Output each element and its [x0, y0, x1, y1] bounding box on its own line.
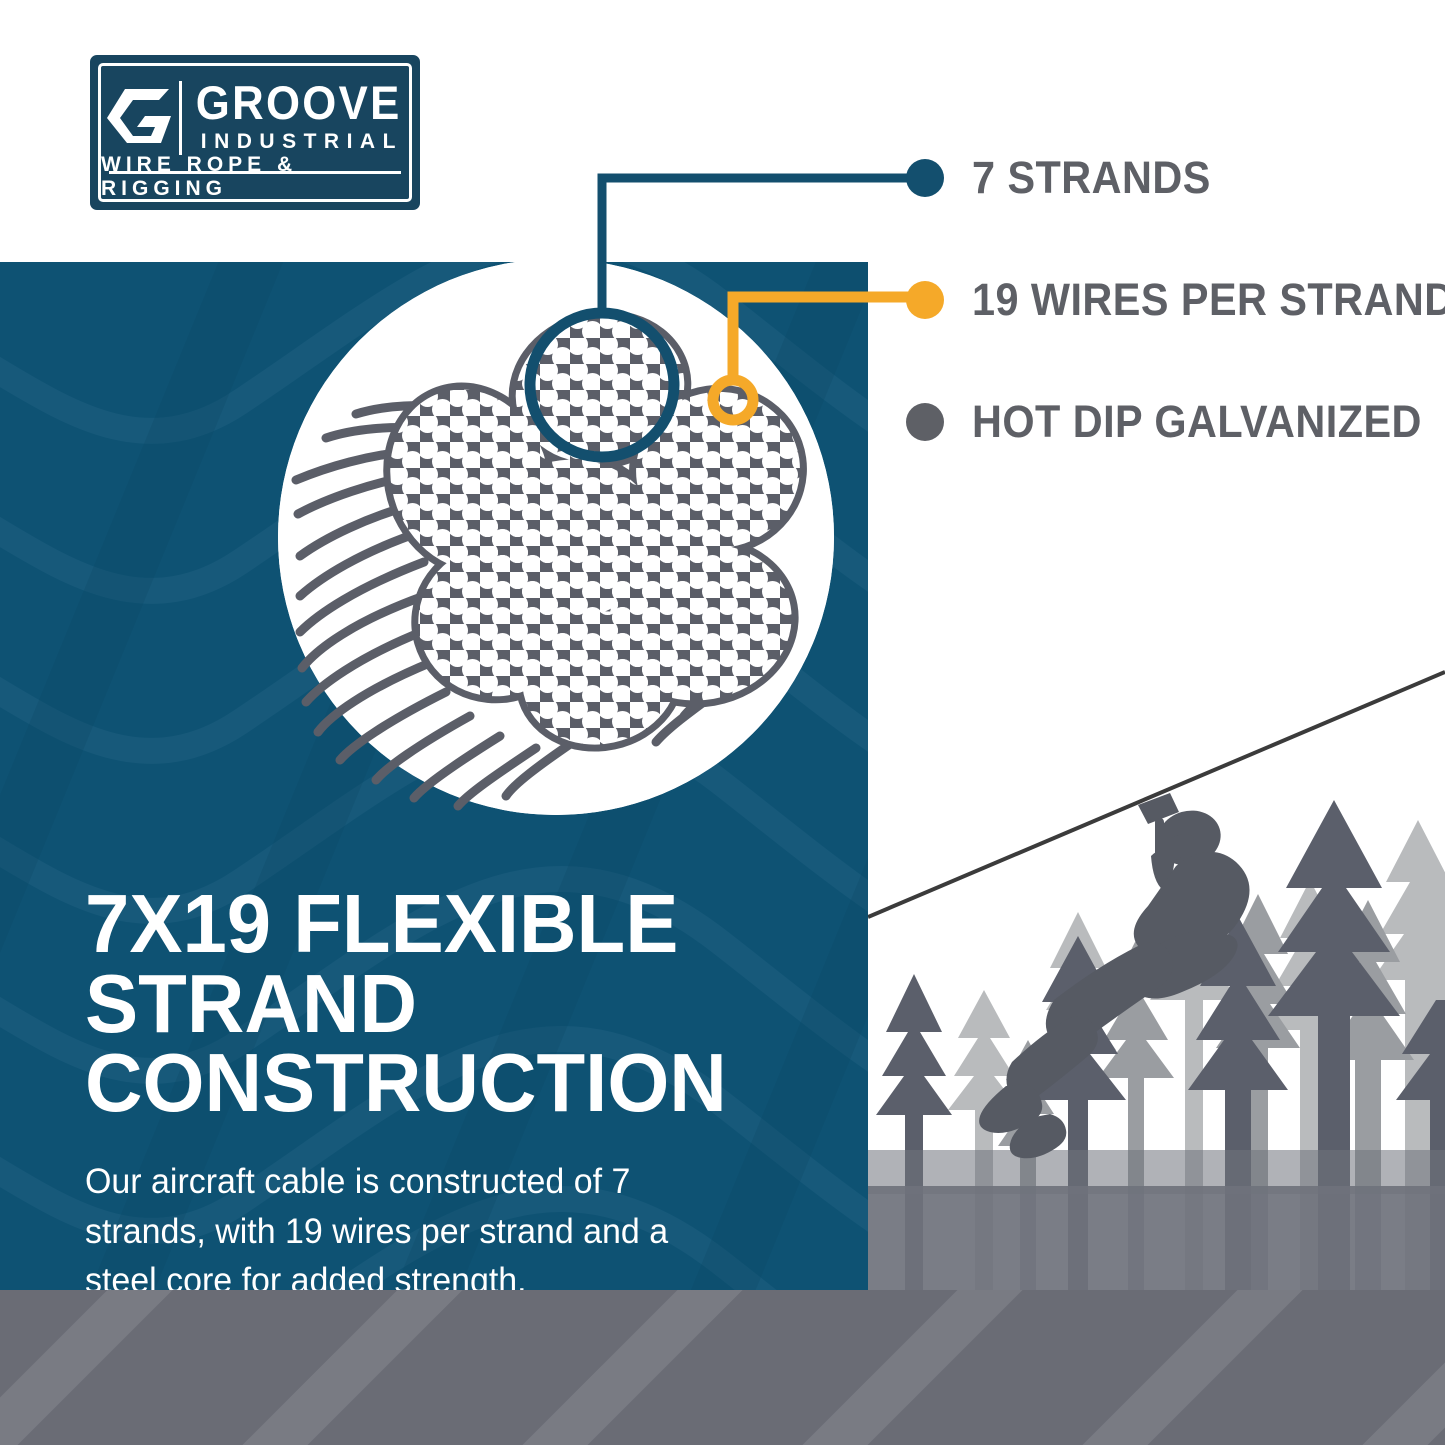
callout-bullet-orange-icon — [906, 281, 944, 319]
callout-item-galvanized[interactable]: HOT DIP GALVANIZED — [906, 392, 1426, 452]
logo-subtitle: INDUSTRIAL — [194, 130, 403, 154]
headline-line-2: STRAND CONSTRUCTION — [85, 964, 815, 1123]
headline-line-1: 7X19 FLEXIBLE — [85, 884, 815, 964]
headline-block: 7X19 FLEXIBLE STRAND CONSTRUCTION Our ai… — [85, 884, 845, 1306]
logo-wordmark: GROOVE INDUSTRIAL — [182, 81, 409, 153]
callout-bullet-gray-icon — [906, 403, 944, 441]
logo-tagline: WIRE ROPE & RIGGING — [101, 153, 409, 201]
callout-label-strands: 7 STRANDS — [972, 152, 1211, 204]
callout-label-galvanized: HOT DIP GALVANIZED — [972, 396, 1422, 448]
feature-callout-list: 7 STRANDS 19 WIRES PER STRAND HOT DIP GA… — [906, 148, 1426, 452]
callout-label-wires: 19 WIRES PER STRAND — [972, 274, 1445, 326]
page-title: 7X19 FLEXIBLE STRAND CONSTRUCTION — [85, 884, 815, 1123]
brand-logo[interactable]: GROOVE INDUSTRIAL WIRE ROPE & RIGGING — [90, 55, 420, 210]
callout-item-wires[interactable]: 19 WIRES PER STRAND — [906, 270, 1426, 330]
bottom-bar — [0, 1290, 1445, 1445]
callout-item-strands[interactable]: 7 STRANDS — [906, 148, 1426, 208]
logo-tagline-row: WIRE ROPE & RIGGING — [101, 155, 409, 199]
callout-bullet-navy-icon — [906, 159, 944, 197]
logo-name: GROOVE — [195, 81, 401, 124]
logo-inner-frame: GROOVE INDUSTRIAL WIRE ROPE & RIGGING — [98, 63, 412, 202]
infographic-canvas: GROOVE INDUSTRIAL WIRE ROPE & RIGGING 7 … — [0, 0, 1445, 1445]
body-paragraph: Our aircraft cable is constructed of 7 s… — [85, 1157, 745, 1306]
